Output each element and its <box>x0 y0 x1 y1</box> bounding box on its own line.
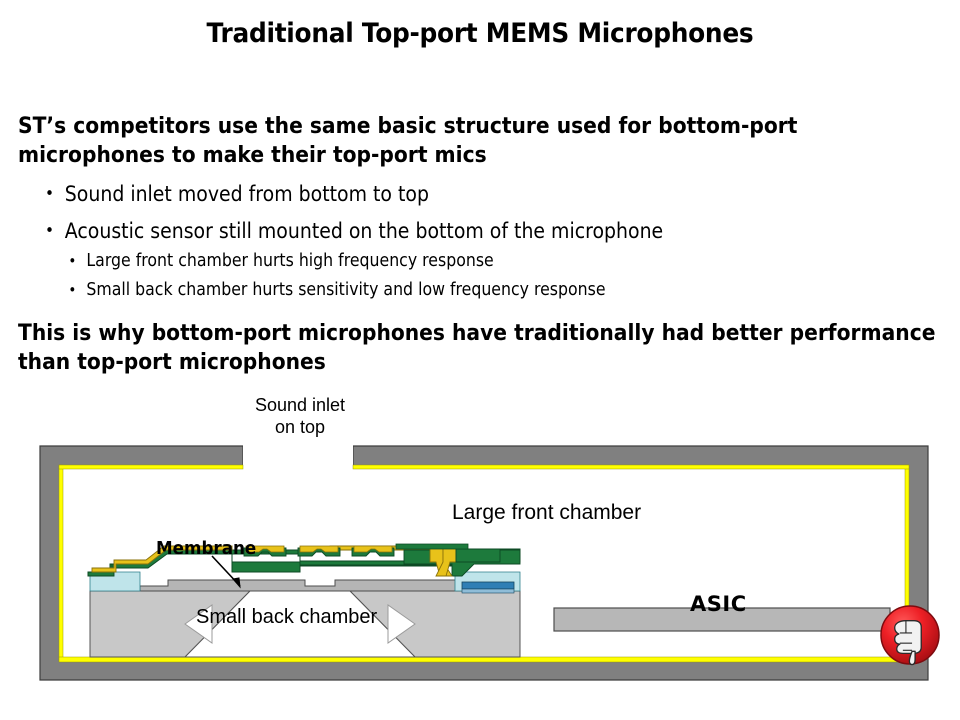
bullet-marker: • <box>45 218 54 244</box>
body-text-block: ST’s competitors use the same basic stru… <box>18 112 943 377</box>
membrane-label: Membrane <box>156 538 256 559</box>
sound-inlet-opening <box>243 445 353 466</box>
bullet-label: Small back chamber hurts sensitivity and… <box>86 280 605 300</box>
asic-label: ASIC <box>690 592 747 616</box>
membrane-plate <box>140 580 468 591</box>
bullet-label: Sound inlet moved from bottom to top <box>65 182 429 206</box>
mems-package-diagram: Sound inlet on top <box>0 386 960 720</box>
green-cap-right-top <box>396 544 468 549</box>
electrode-strip-lower <box>462 589 514 593</box>
bullet-marker: • <box>68 250 76 273</box>
bullet-label: Large front chamber hurts high frequency… <box>86 251 493 271</box>
slide-root: Traditional Top-port MEMS Microphones ST… <box>0 0 960 720</box>
bullet-marker: • <box>45 181 54 207</box>
green-cap-right <box>456 549 500 562</box>
conclusion-paragraph: This is why bottom-port microphones have… <box>18 319 941 377</box>
front-chamber-label: Large front chamber <box>452 501 641 525</box>
liner-top-left <box>59 465 243 469</box>
bullet-label: Acoustic sensor still mounted on the bot… <box>65 219 663 243</box>
thumbs-down-fist <box>895 621 922 654</box>
liner-bottom <box>59 657 909 662</box>
bullet-item-2: • Acoustic sensor still mounted on the b… <box>18 218 960 244</box>
mems-die <box>88 544 520 657</box>
thumbs-down-badge-group <box>881 606 939 665</box>
bullet-item-1: • Sound inlet moved from bottom to top <box>18 181 960 207</box>
liner-left <box>59 465 63 661</box>
back-chamber-label: Small back chamber <box>196 606 377 629</box>
lead-paragraph: ST’s competitors use the same basic stru… <box>18 112 941 170</box>
electrode-strip <box>462 582 514 589</box>
bullet-item-3: • Large front chamber hurts high frequen… <box>18 250 960 273</box>
bullet-item-4: • Small back chamber hurts sensitivity a… <box>18 279 960 302</box>
package-cross-section-svg <box>0 386 960 720</box>
page-title: Traditional Top-port MEMS Microphones <box>38 18 921 49</box>
liner-top-right <box>353 465 909 469</box>
bullet-marker: • <box>68 279 76 302</box>
